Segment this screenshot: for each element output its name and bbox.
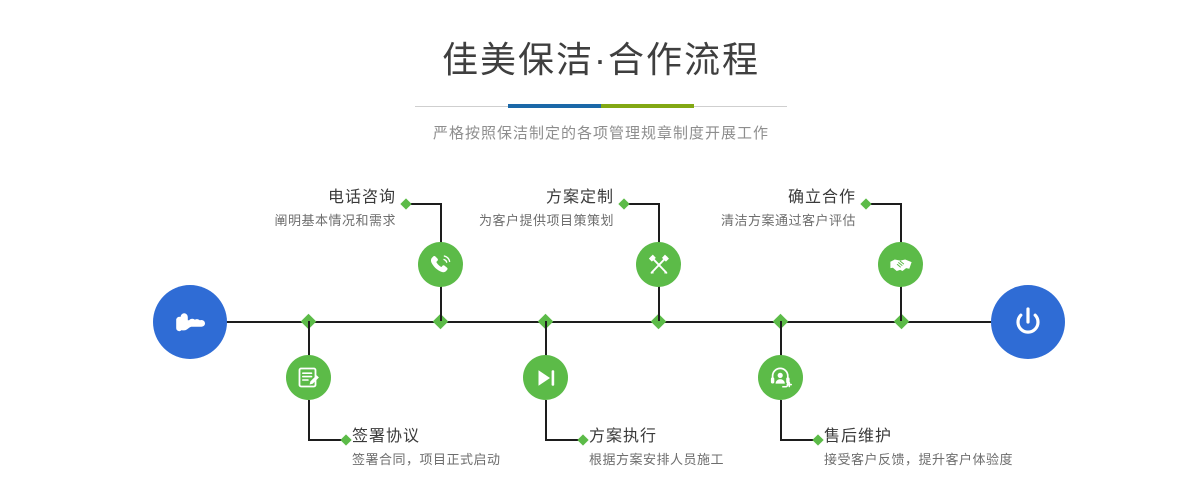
step-2-icon-node[interactable] bbox=[286, 355, 331, 400]
customer-service-add-icon bbox=[768, 365, 793, 390]
step-1-stem-lower bbox=[440, 285, 442, 321]
document-edit-icon bbox=[296, 365, 321, 390]
step-5-stem-lower bbox=[900, 285, 902, 321]
step-4-stem-upper bbox=[545, 321, 547, 357]
step-5-label: 确立合作 清洁方案通过客户评估 bbox=[608, 188, 856, 230]
step-4-arm bbox=[545, 439, 581, 441]
step-6-stem-lower bbox=[780, 400, 782, 440]
step-5-stem-upper bbox=[900, 203, 902, 245]
step-3-stem-lower bbox=[658, 285, 660, 321]
step-6-desc: 接受客户反馈，提升客户体验度 bbox=[824, 450, 1154, 469]
step-1-desc: 阐明基本情况和需求 bbox=[148, 211, 396, 230]
timeline-start-node[interactable] bbox=[153, 285, 227, 359]
pencil-design-icon bbox=[646, 252, 672, 278]
step-6-icon-node[interactable] bbox=[758, 355, 803, 400]
step-2-stem-upper bbox=[308, 321, 310, 357]
step-3-desc: 为客户提供项目策策划 bbox=[368, 211, 614, 230]
pointing-hand-icon bbox=[170, 302, 210, 342]
timeline-end-node[interactable] bbox=[991, 285, 1065, 359]
power-icon bbox=[1008, 302, 1048, 342]
phone-call-icon bbox=[428, 252, 454, 278]
step-6-label: 售后维护 接受客户反馈，提升客户体验度 bbox=[824, 427, 1154, 469]
step-2-arm bbox=[308, 439, 344, 441]
timeline: 电话咨询 阐明基本情况和需求 签署协议 签署合同，项目正式启动 bbox=[0, 0, 1202, 502]
handshake-icon bbox=[888, 252, 914, 278]
step-1-icon-node[interactable] bbox=[418, 242, 463, 287]
step-2-tip-dot bbox=[340, 434, 351, 445]
step-6-title: 售后维护 bbox=[824, 427, 1154, 447]
step-5-icon-node[interactable] bbox=[878, 242, 923, 287]
step-4-icon-node[interactable] bbox=[523, 355, 568, 400]
step-6-stem-upper bbox=[780, 321, 782, 357]
step-4-stem-lower bbox=[545, 400, 547, 440]
process-flow-infographic: 佳美保洁·合作流程 严格按照保洁制定的各项管理规章制度开展工作 bbox=[0, 0, 1202, 502]
step-3-label: 方案定制 为客户提供项目策策划 bbox=[368, 188, 614, 230]
play-skip-icon bbox=[534, 366, 558, 390]
step-5-desc: 清洁方案通过客户评估 bbox=[608, 211, 856, 230]
step-3-icon-node[interactable] bbox=[636, 242, 681, 287]
step-6-arm bbox=[780, 439, 816, 441]
step-2-stem-lower bbox=[308, 400, 310, 440]
step-3-title: 方案定制 bbox=[368, 188, 614, 208]
step-1-label: 电话咨询 阐明基本情况和需求 bbox=[148, 188, 396, 230]
step-1-title: 电话咨询 bbox=[148, 188, 396, 208]
step-5-title: 确立合作 bbox=[608, 188, 856, 208]
step-5-tip-dot bbox=[860, 198, 871, 209]
